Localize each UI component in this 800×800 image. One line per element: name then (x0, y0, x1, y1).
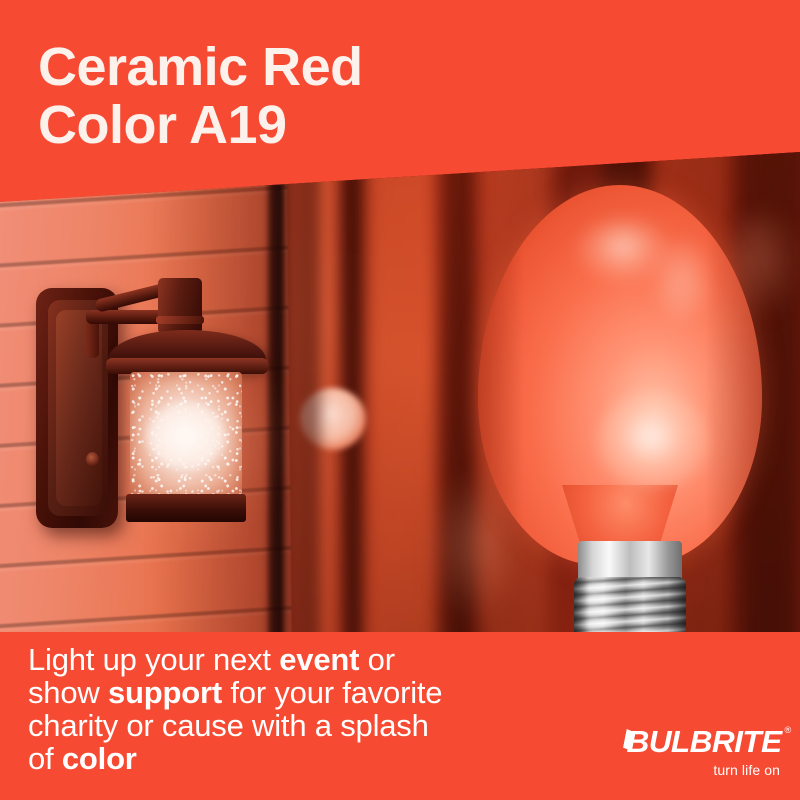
marketing-tagline: Light up your next event or show support… (28, 644, 588, 775)
logo-wordmark: BULBRITE ® (627, 726, 782, 757)
logo-wordmark-text: BULBRITE (627, 724, 782, 759)
tagline-line-3: charity or cause with a splash (28, 708, 429, 743)
tagline-text: show (28, 675, 108, 710)
brand-logo: BULBRITE ® turn life on (628, 726, 780, 778)
tagline-emphasis-color: color (62, 741, 137, 776)
bulb-highlight-top (578, 219, 668, 281)
bulb-highlight-right (656, 241, 708, 319)
logo-tagline: turn life on (628, 762, 780, 778)
sconce-screw-cap (86, 452, 99, 467)
tagline-line-4: of color (28, 741, 137, 776)
sconce-glass-shade (130, 372, 242, 500)
tagline-emphasis-event: event (279, 642, 359, 677)
registered-trademark-icon: ® (785, 726, 791, 735)
tagline-text: of (28, 741, 62, 776)
sconce-shade-base-band (126, 494, 246, 522)
sconce-finial (158, 278, 202, 334)
bulb-highlight-main (598, 393, 708, 489)
product-marketing-banner: Ceramic Red Color A19 Light up your next… (0, 0, 800, 800)
a19-light-bulb (470, 185, 780, 685)
tagline-line-2: show support for your favorite (28, 675, 442, 710)
tagline-text: Light up your next (28, 642, 279, 677)
tagline-text: for your favorite (222, 675, 442, 710)
sconce-finial-band (156, 316, 204, 324)
page-title: Ceramic Red Color A19 (38, 38, 738, 155)
tagline-line-1: Light up your next event or (28, 642, 395, 677)
tagline-text: or (359, 642, 395, 677)
tagline-emphasis-support: support (108, 675, 222, 710)
shade-bright-core (146, 403, 227, 470)
